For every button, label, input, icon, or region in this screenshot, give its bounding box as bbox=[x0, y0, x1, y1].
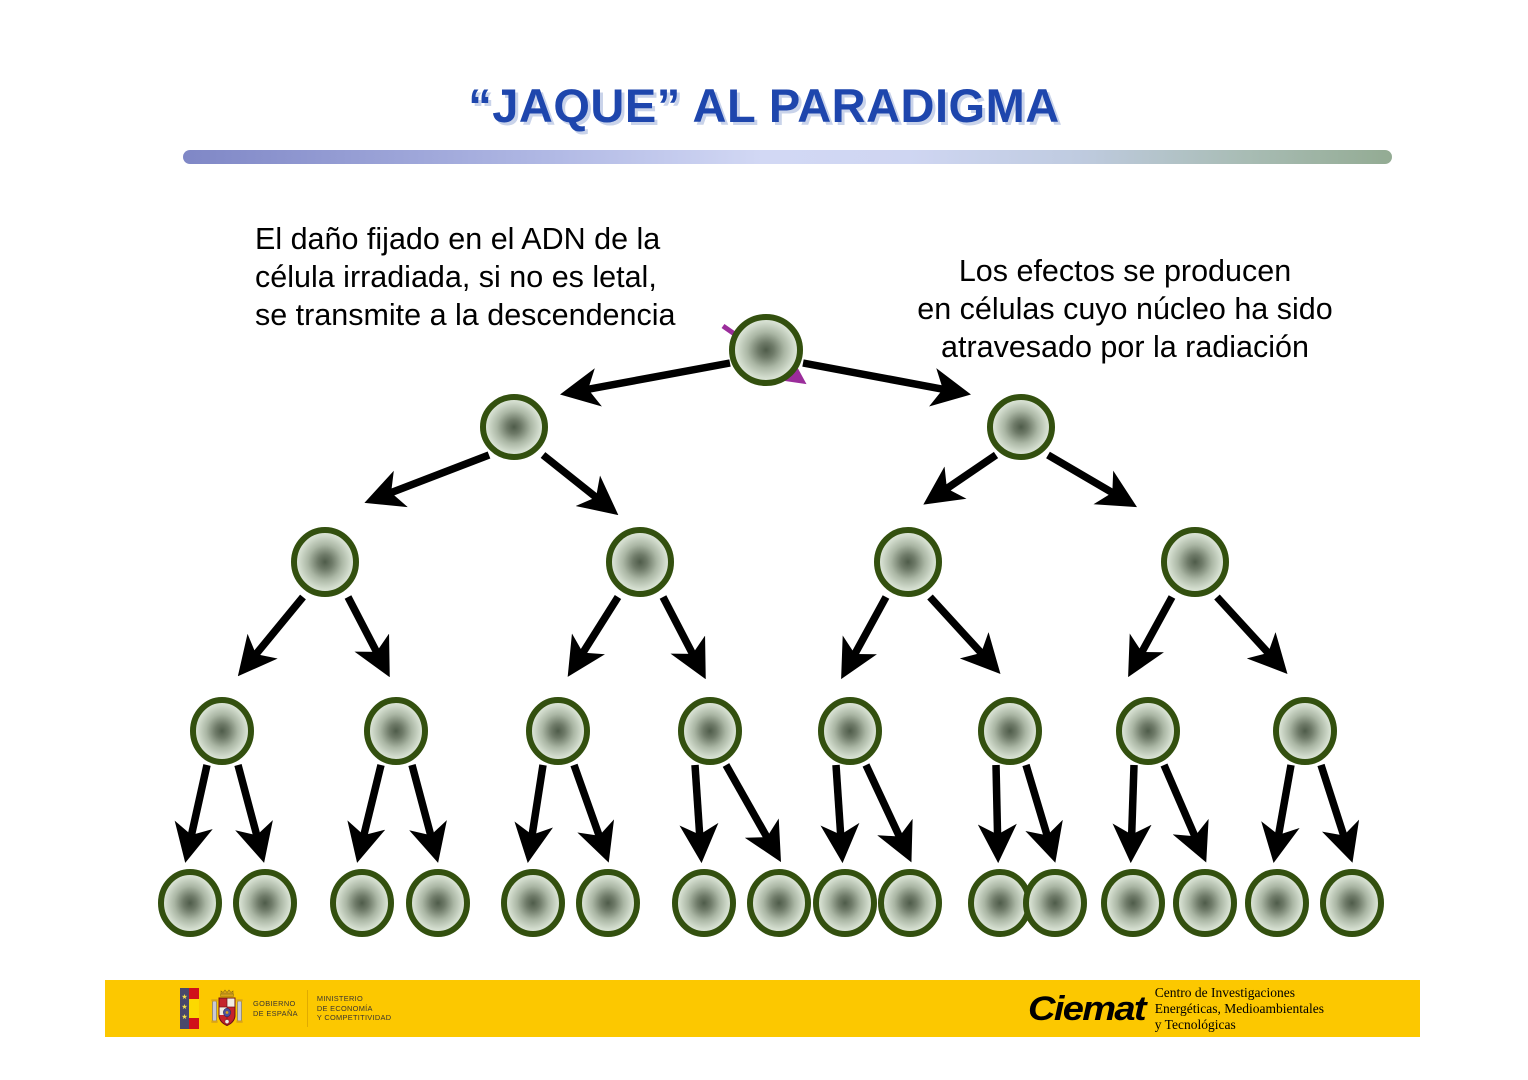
cell-l4-1 bbox=[193, 700, 251, 762]
cell-l5-16 bbox=[1323, 872, 1381, 934]
gobierno-de-espana-logo: ★★★ bbox=[180, 984, 391, 1033]
gobierno-label: GOBIERNO DE ESPAÑA bbox=[253, 999, 298, 1018]
arrow-l3b-to-l4c bbox=[572, 597, 618, 670]
cell-l5-2 bbox=[236, 872, 294, 934]
page-title: “JAQUE” AL PARADIGMA bbox=[0, 78, 1528, 133]
cell-l5-5 bbox=[504, 872, 562, 934]
arrow-l4g-to-l5m bbox=[1131, 765, 1134, 855]
cell-l5-3 bbox=[333, 872, 391, 934]
cell-l2-2 bbox=[990, 397, 1052, 457]
cell-l5-14 bbox=[1176, 872, 1234, 934]
ciemat-wordmark: Ciemat bbox=[1028, 990, 1145, 1029]
coat-of-arms-icon bbox=[208, 988, 246, 1029]
cell-l5-7 bbox=[675, 872, 733, 934]
ciemat-subtitle: Centro de Investigaciones Energéticas, M… bbox=[1155, 985, 1324, 1033]
footer-bar: ★★★ bbox=[105, 980, 1420, 1037]
cell-l5-1 bbox=[161, 872, 219, 934]
arrow-l3b-to-l4d bbox=[663, 597, 702, 672]
arrow-l3d-to-l4g bbox=[1132, 597, 1172, 670]
caption-right-nucleus-traversal: Los efectos se producen en células cuyo … bbox=[880, 252, 1370, 366]
cell-l4-2 bbox=[367, 700, 425, 762]
cell-l5-15 bbox=[1248, 872, 1306, 934]
arrow-l4c-to-l5e bbox=[529, 765, 543, 855]
cell-l5-6 bbox=[579, 872, 637, 934]
cell-l2-1 bbox=[483, 397, 545, 457]
flag-red-bottom bbox=[189, 1018, 199, 1029]
arrow-l3c-to-l4f bbox=[930, 597, 995, 668]
cell-l5-8 bbox=[750, 872, 808, 934]
cell-l5-12 bbox=[1026, 872, 1084, 934]
arrow-l3a-to-l4b bbox=[348, 597, 386, 670]
cell-l3-1 bbox=[294, 530, 356, 594]
arrow-l4b-to-l5d bbox=[412, 765, 436, 855]
ministerio-label: MINISTERIO DE ECONOMÍA Y COMPETITIVIDAD bbox=[317, 994, 391, 1023]
cell-root bbox=[732, 317, 800, 383]
cell-l4-5 bbox=[821, 700, 879, 762]
arrow-l1-to-l2-left bbox=[568, 363, 730, 393]
arrow-l4e-to-l5i bbox=[836, 765, 842, 855]
cell-l3-4 bbox=[1164, 530, 1226, 594]
cell-l3-2 bbox=[609, 530, 671, 594]
arrow-l3d-to-l4h bbox=[1217, 597, 1282, 668]
spanish-flag-icon: ★★★ bbox=[180, 988, 199, 1029]
cell-l5-10 bbox=[881, 872, 939, 934]
arrow-l2b-to-l3d bbox=[1048, 455, 1130, 503]
cell-l3-3 bbox=[877, 530, 939, 594]
arrow-l1-to-l2-right bbox=[803, 363, 963, 393]
caption-left-hereditary-damage: El daño fijado en el ADN de la célula ir… bbox=[255, 220, 675, 334]
arrow-l4h-to-l5o bbox=[1275, 765, 1291, 855]
cell-l4-7 bbox=[1119, 700, 1177, 762]
cell-l5-13 bbox=[1104, 872, 1162, 934]
eu-stars-icon: ★★★ bbox=[180, 988, 189, 1029]
arrow-l4f-to-l5l bbox=[1026, 765, 1053, 855]
arrow-l4h-to-l5p bbox=[1321, 765, 1350, 855]
arrow-l4f-to-l5k bbox=[996, 765, 998, 855]
arrow-l4a-to-l5a bbox=[187, 765, 207, 855]
tree-arrow-group bbox=[187, 363, 1350, 855]
footer-divider bbox=[307, 990, 308, 1027]
arrow-l4e-to-l5j bbox=[866, 765, 908, 855]
title-underline-rule bbox=[183, 150, 1392, 164]
arrow-l4d-to-l5h bbox=[726, 765, 777, 855]
arrow-l2a-to-l3b bbox=[543, 455, 612, 510]
arrow-l4b-to-l5c bbox=[359, 765, 381, 855]
arrow-l4g-to-l5n bbox=[1164, 765, 1203, 855]
radiation-arrow-through-nucleus bbox=[723, 326, 802, 381]
arrow-l3a-to-l4a bbox=[243, 597, 303, 670]
arrow-l3c-to-l4e bbox=[845, 597, 886, 672]
arrow-l4d-to-l5g bbox=[695, 765, 701, 855]
cell-l5-9 bbox=[816, 872, 874, 934]
arrow-l4c-to-l5f bbox=[574, 765, 606, 855]
flag-red-top bbox=[189, 988, 199, 999]
cell-l5-4 bbox=[409, 872, 467, 934]
arrow-l2a-to-l3a bbox=[372, 455, 489, 500]
ciemat-logo: Ciemat Centro de Investigaciones Energét… bbox=[1028, 986, 1324, 1032]
arrow-l2b-to-l3c bbox=[930, 455, 996, 500]
cell-l4-3 bbox=[529, 700, 587, 762]
cell-l4-6 bbox=[981, 700, 1039, 762]
cell-group bbox=[161, 317, 1381, 934]
cell-l5-11 bbox=[971, 872, 1029, 934]
arrow-l4a-to-l5b bbox=[238, 765, 262, 855]
cell-l4-4 bbox=[681, 700, 739, 762]
flag-yellow-mid bbox=[189, 999, 199, 1018]
cell-l4-8 bbox=[1276, 700, 1334, 762]
